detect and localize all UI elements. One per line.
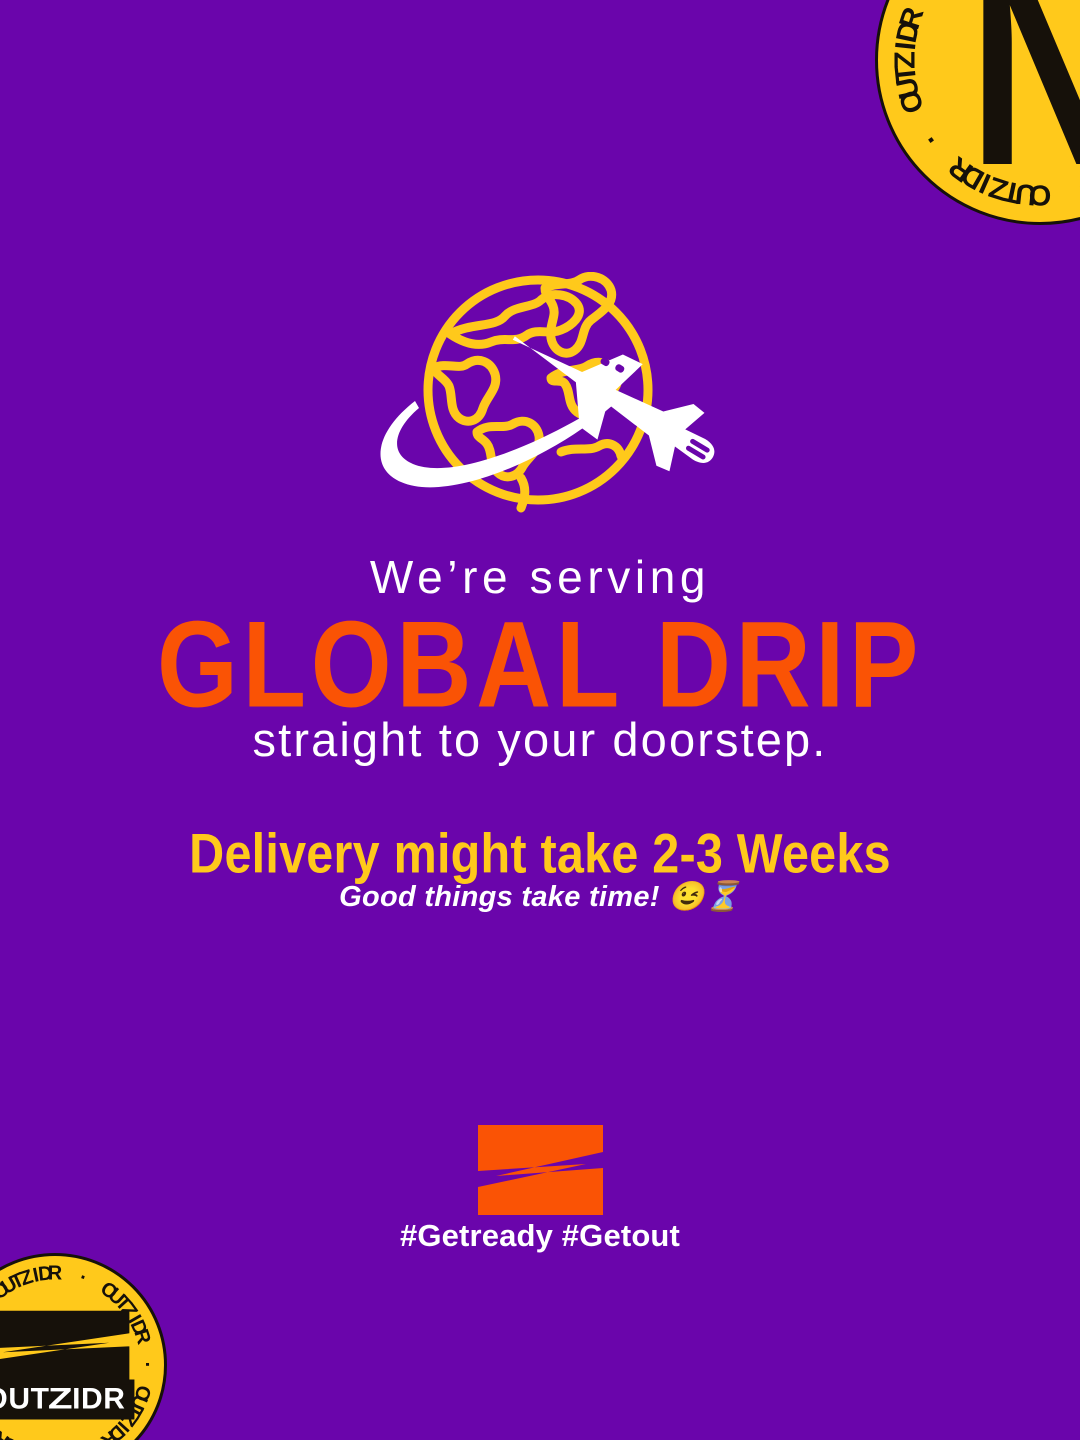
sticker-ring-char: ·: [135, 1362, 158, 1369]
page-title: GLOBAL DRIP: [0, 604, 1080, 727]
delivery-reassurance: Good things take time! 😉⏳: [0, 880, 1080, 915]
sticker-core: OUTZIDR: [0, 1311, 135, 1420]
sticker-ring-char: Z: [890, 51, 923, 69]
delivery-notice: Delivery might take 2-3 Weeks: [16, 822, 1064, 886]
sticker-ring-char: ·: [76, 1266, 89, 1290]
brand-sticker-top-right: OUTZIDR·OUTZIDR·OUTZIDR·OUTZIDR·OUTZIDR·…: [875, 0, 1080, 225]
eyebrow-text: We’re serving: [0, 552, 1080, 603]
subtitle-text: straight to your doorstep.: [0, 714, 1080, 766]
promo-poster: We’re serving GLOBAL DRIP straight to yo…: [0, 0, 1080, 1440]
hashtags-text: #Getready #Getout: [0, 1218, 1080, 1254]
sticker-ring-char: ·: [915, 125, 947, 152]
globe-airplane-illustration: [355, 272, 715, 517]
sticker-center-letter: N: [969, 0, 1080, 210]
brand-z-logo: [478, 1125, 603, 1215]
sticker-z-mark: [0, 1311, 129, 1390]
sticker-wordmark-z: Z: [46, 1385, 76, 1415]
sticker-ring-char: R: [48, 1263, 62, 1286]
brand-sticker-bottom-left: OUTZIDR·OUTZIDR·OUTZIDR·OUTZIDR·OUTZIDR·…: [0, 1253, 167, 1440]
